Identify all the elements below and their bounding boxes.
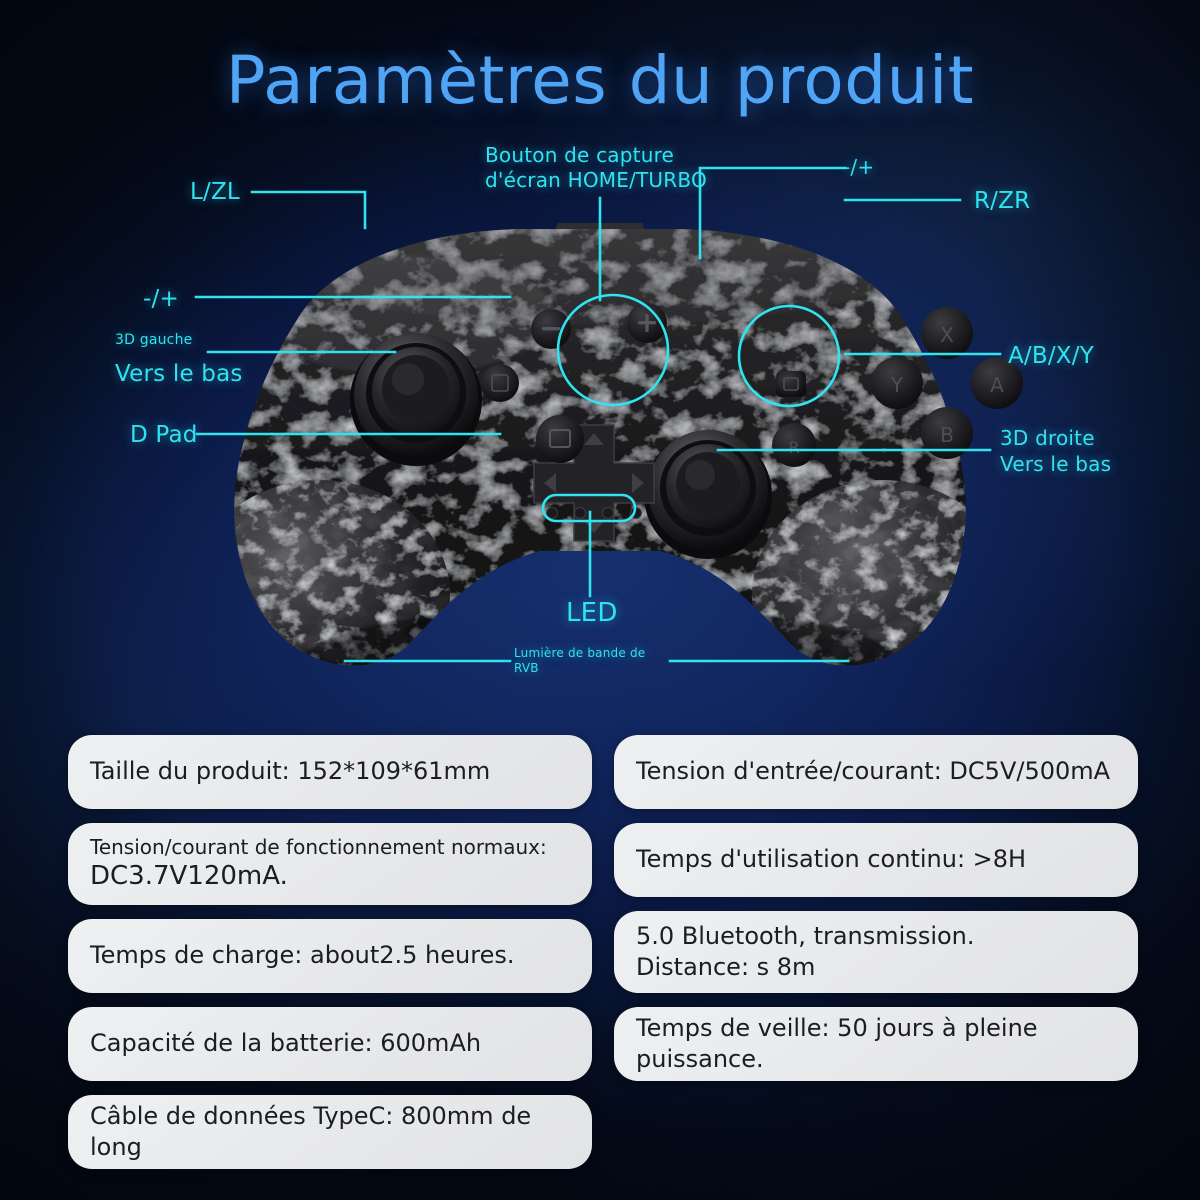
spec-line: Câble de données TypeC: 800mm de long <box>90 1101 570 1163</box>
svg-text:X: X <box>940 323 954 347</box>
spec-card: Tension/courant de fonctionnement normau… <box>68 823 592 905</box>
specs-right-column: Tension d'entrée/courant: DC5V/500mA Tem… <box>614 735 1138 1169</box>
spec-card: 5.0 Bluetooth, transmission. Distance: s… <box>614 911 1138 993</box>
spec-line: 5.0 Bluetooth, transmission. <box>636 921 1116 952</box>
product-specs: Taille du produit: 152*109*61mm Tension/… <box>68 735 1138 1169</box>
product-image-controller: X Y A B R <box>160 195 1040 705</box>
spec-line: Tension d'entrée/courant: DC5V/500mA <box>636 756 1116 787</box>
spec-card: Capacité de la batterie: 600mAh <box>68 1007 592 1081</box>
spec-card: Temps de veille: 50 jours à pleine puiss… <box>614 1007 1138 1081</box>
spec-line: Capacité de la batterie: 600mAh <box>90 1028 570 1059</box>
spec-card: Câble de données TypeC: 800mm de long <box>68 1095 592 1169</box>
right-analog-stick <box>644 430 772 559</box>
svg-text:R: R <box>788 438 799 457</box>
svg-text:Y: Y <box>890 373 904 397</box>
page-title: Paramètres du produit <box>0 42 1200 119</box>
spec-line: Taille du produit: 152*109*61mm <box>90 756 570 787</box>
specs-left-column: Taille du produit: 152*109*61mm Tension/… <box>68 735 592 1169</box>
svg-text:B: B <box>940 423 954 447</box>
spec-line: Temps de charge: about2.5 heures. <box>90 940 570 971</box>
spec-card: Temps de charge: about2.5 heures. <box>68 919 592 993</box>
plus-button <box>627 303 667 343</box>
spec-card: Temps d'utilisation continu: >8H <box>614 823 1138 897</box>
spec-card: Tension d'entrée/courant: DC5V/500mA <box>614 735 1138 809</box>
spec-line: DC3.7V120mA. <box>90 860 570 894</box>
spec-card: Taille du produit: 152*109*61mm <box>68 735 592 809</box>
spec-line: Tension/courant de fonctionnement normau… <box>90 834 570 860</box>
spec-line: Temps de veille: 50 jours à pleine puiss… <box>636 1013 1116 1075</box>
spec-line: Distance: s 8m <box>636 952 1116 983</box>
left-analog-stick <box>350 333 482 466</box>
minus-button <box>531 309 571 349</box>
spec-line: Temps d'utilisation continu: >8H <box>636 844 1116 875</box>
svg-text:A: A <box>990 373 1004 397</box>
